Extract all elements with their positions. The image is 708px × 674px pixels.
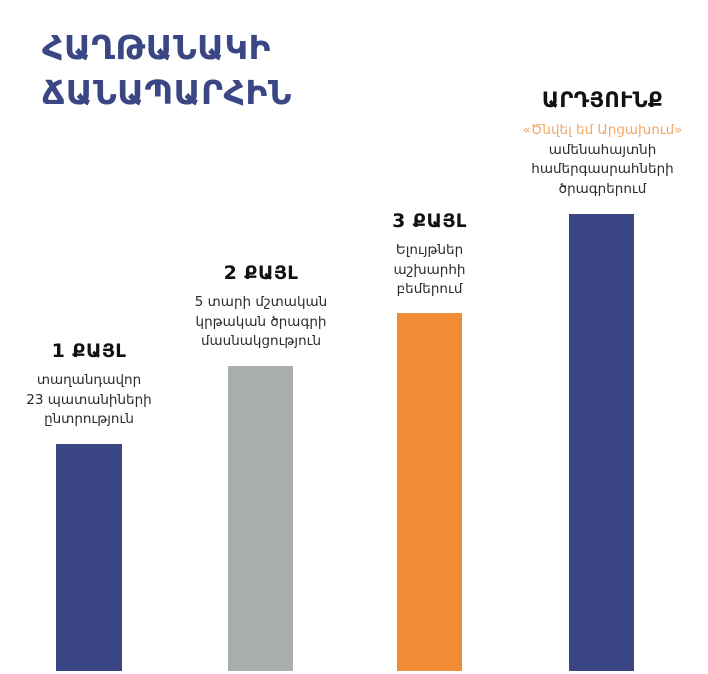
step-3-heading: 3 ՔԱՅԼ [346, 210, 513, 232]
step-1-desc-line-1: տաղանդավոր [4, 371, 174, 391]
page-title-line-2: ՃԱՆԱՊԱՐՀԻՆ [42, 71, 372, 116]
bar-step-2 [228, 366, 293, 671]
step-3-desc-line-2: աշխարհի [346, 261, 513, 281]
page-title: ՀԱՂԹԱՆԱԿԻ ՃԱՆԱՊԱՐՀԻՆ [42, 26, 372, 115]
result-description: «Ծնվել եմ Արցախում» ամենահայտնի համերգաս… [500, 121, 705, 199]
result-heading: ԱՐԴՅՈՒՆՔ [500, 88, 705, 112]
step-2-desc-line-1: 5 տարի մշտական [176, 293, 346, 313]
step-1-desc-line-3: ընտրություն [4, 410, 174, 430]
bar-step-3 [397, 313, 462, 671]
step-block-2: 2 ՔԱՅԼ 5 տարի մշտական կրթական ծրագրի մաս… [176, 262, 346, 352]
result-highlight-text: «Ծնվել եմ Արցախում» [500, 121, 705, 141]
result-desc-line-3: ծրագրերում [500, 180, 705, 200]
step-2-desc-line-3: մասնակցություն [176, 332, 346, 352]
result-desc-line-1: ամենահայտնի [500, 141, 705, 161]
step-1-desc-line-2: 23 պատանիների [4, 391, 174, 411]
step-block-3: 3 ՔԱՅԼ Ելույթներ աշխարհի բեմերում [346, 210, 513, 300]
step-2-desc-line-2: կրթական ծրագրի [176, 313, 346, 333]
bar-result [569, 214, 634, 671]
page-title-line-1: ՀԱՂԹԱՆԱԿԻ [42, 26, 372, 71]
bar-step-1 [56, 444, 122, 671]
result-desc-line-2: համերգասրահների [500, 160, 705, 180]
result-block: ԱՐԴՅՈՒՆՔ «Ծնվել եմ Արցախում» ամենահայտնի… [500, 88, 705, 199]
step-block-1: 1 ՔԱՅԼ տաղանդավոր 23 պատանիների ընտրությ… [4, 340, 174, 430]
step-3-desc-line-1: Ելույթներ [346, 241, 513, 261]
step-3-description: Ելույթներ աշխարհի բեմերում [346, 241, 513, 300]
step-2-heading: 2 ՔԱՅԼ [176, 262, 346, 284]
step-3-desc-line-3: բեմերում [346, 280, 513, 300]
step-1-description: տաղանդավոր 23 պատանիների ընտրություն [4, 371, 174, 430]
step-2-description: 5 տարի մշտական կրթական ծրագրի մասնակցութ… [176, 293, 346, 352]
infographic-canvas: ՀԱՂԹԱՆԱԿԻ ՃԱՆԱՊԱՐՀԻՆ 1 ՔԱՅԼ տաղանդավոր 2… [0, 0, 708, 674]
step-1-heading: 1 ՔԱՅԼ [4, 340, 174, 362]
